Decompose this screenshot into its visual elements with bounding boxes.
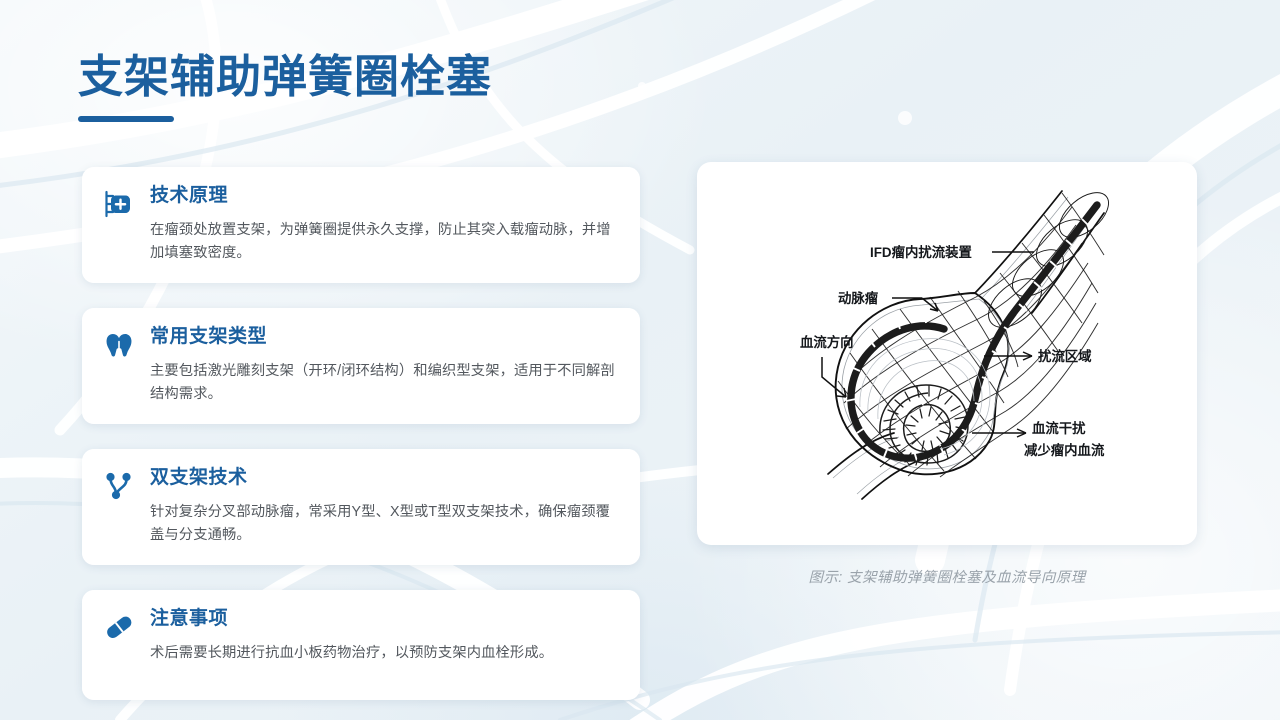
card-body: 双支架技术 针对复杂分叉部动脉瘤，常采用Y型、X型或T型双支架技术，确保瘤颈覆盖… (150, 466, 618, 547)
card-body: 技术原理 在瘤颈处放置支架，为弹簧圈提供永久支撑，防止其突入载瘤动脉，并增加填塞… (150, 184, 618, 265)
card-description: 主要包括激光雕刻支架（开环/闭环结构）和编织型支架，适用于不同解剖结构需求。 (150, 360, 618, 406)
diagram-label-aneurysm: 动脉瘤 (838, 290, 879, 306)
figure-caption: 图示: 支架辅助弹簧圈栓塞及血流导向原理 (697, 566, 1197, 587)
diagram-label-disturbance-zone: 扰流区域 (1038, 348, 1092, 364)
title-block: 支架辅助弹簧圈栓塞 (78, 52, 492, 122)
card-description: 术后需要长期进行抗血小板药物治疗，以预防支架内血栓形成。 (150, 642, 618, 665)
slide-root: 支架辅助弹簧圈栓塞 (0, 0, 1280, 720)
page-title: 支架辅助弹簧圈栓塞 (78, 52, 492, 102)
card-body: 常用支架类型 主要包括激光雕刻支架（开环/闭环结构）和编织型支架，适用于不同解剖… (150, 325, 618, 406)
card-description: 针对复杂分叉部动脉瘤，常采用Y型、X型或T型双支架技术，确保瘤颈覆盖与分支通畅。 (150, 501, 618, 547)
bifurcation-branch-icon (102, 469, 136, 503)
diagram-label-flow-disturbance-2: 减少瘤内血流 (1024, 442, 1105, 458)
capsule-pill-icon (102, 610, 136, 644)
diagram-label-flow-direction: 血流方向 (800, 334, 854, 350)
diagram-label-flow-disturbance-1: 血流干扰 (1032, 420, 1086, 436)
card-title: 双支架技术 (150, 467, 618, 490)
info-card-precautions[interactable]: 注意事项 术后需要长期进行抗血小板药物治疗，以预防支架内血栓形成。 (82, 590, 640, 700)
figure-panel: IFD瘤内扰流装置 动脉瘤 血流方向 扰流区域 (697, 162, 1197, 545)
info-card-list: 技术原理 在瘤颈处放置支架，为弹簧圈提供永久支撑，防止其突入载瘤动脉，并增加填塞… (82, 167, 640, 700)
card-title: 常用支架类型 (150, 326, 618, 349)
stent-plus-icon (102, 187, 136, 221)
diagram-label-device: IFD瘤内扰流装置 (870, 244, 972, 260)
card-title: 注意事项 (150, 608, 618, 631)
card-description: 在瘤颈处放置支架，为弹簧圈提供永久支撑，防止其突入载瘤动脉，并增加填塞致密度。 (150, 219, 618, 265)
info-card-technique-principle[interactable]: 技术原理 在瘤颈处放置支架，为弹簧圈提供永久支撑，防止其突入载瘤动脉，并增加填塞… (82, 167, 640, 283)
tooth-stent-icon (102, 328, 136, 362)
aneurysm-stent-diagram: IFD瘤内扰流装置 动脉瘤 血流方向 扰流区域 (732, 181, 1162, 526)
card-title: 技术原理 (150, 185, 618, 208)
title-underline-rule (78, 116, 174, 122)
card-body: 注意事项 术后需要长期进行抗血小板药物治疗，以预防支架内血栓形成。 (150, 607, 618, 665)
info-card-stent-types[interactable]: 常用支架类型 主要包括激光雕刻支架（开环/闭环结构）和编织型支架，适用于不同解剖… (82, 308, 640, 424)
info-card-dual-stent[interactable]: 双支架技术 针对复杂分叉部动脉瘤，常采用Y型、X型或T型双支架技术，确保瘤颈覆盖… (82, 449, 640, 565)
